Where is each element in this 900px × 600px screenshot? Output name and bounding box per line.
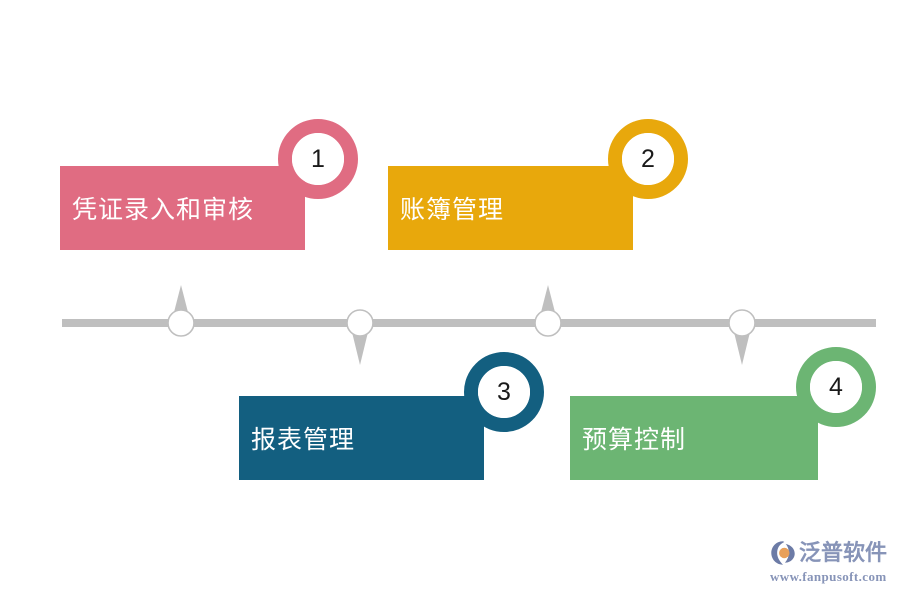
- axis-node-circle-2: [347, 310, 373, 336]
- step-4-badge-center: [810, 361, 862, 413]
- step-2[interactable]: [388, 126, 681, 250]
- axis-node-1: [168, 285, 194, 336]
- step-3-badge-center: [478, 366, 530, 418]
- step-2-badge-center: [622, 133, 674, 185]
- step-1[interactable]: [60, 126, 351, 250]
- diagram-canvas: 凭证录入和审核 1 账簿管理 2 报表管理 3 预算控制 4 泛普软件 www.…: [0, 0, 900, 600]
- brand-name: 泛普软件: [799, 540, 887, 566]
- axis-node-circle-1: [168, 310, 194, 336]
- process-timeline-graphic: [0, 0, 900, 600]
- axis-node-3: [535, 285, 561, 336]
- step-4[interactable]: [570, 354, 869, 480]
- axis-node-circle-4: [729, 310, 755, 336]
- brand-watermark: 泛普软件 www.fanpusoft.com: [770, 538, 890, 586]
- step-1-box: [60, 166, 305, 250]
- fanpu-logo-icon: [770, 540, 796, 566]
- brand-url: www.fanpusoft.com: [770, 569, 890, 585]
- step-4-box: [570, 396, 818, 480]
- brand-row: 泛普软件: [770, 538, 890, 568]
- step-3[interactable]: [239, 359, 537, 480]
- step-3-box: [239, 396, 484, 480]
- step-2-box: [388, 166, 633, 250]
- axis-node-4: [729, 310, 755, 365]
- step-1-badge-center: [292, 133, 344, 185]
- axis-node-2: [347, 310, 373, 365]
- timeline-axis: [62, 285, 876, 365]
- axis-node-circle-3: [535, 310, 561, 336]
